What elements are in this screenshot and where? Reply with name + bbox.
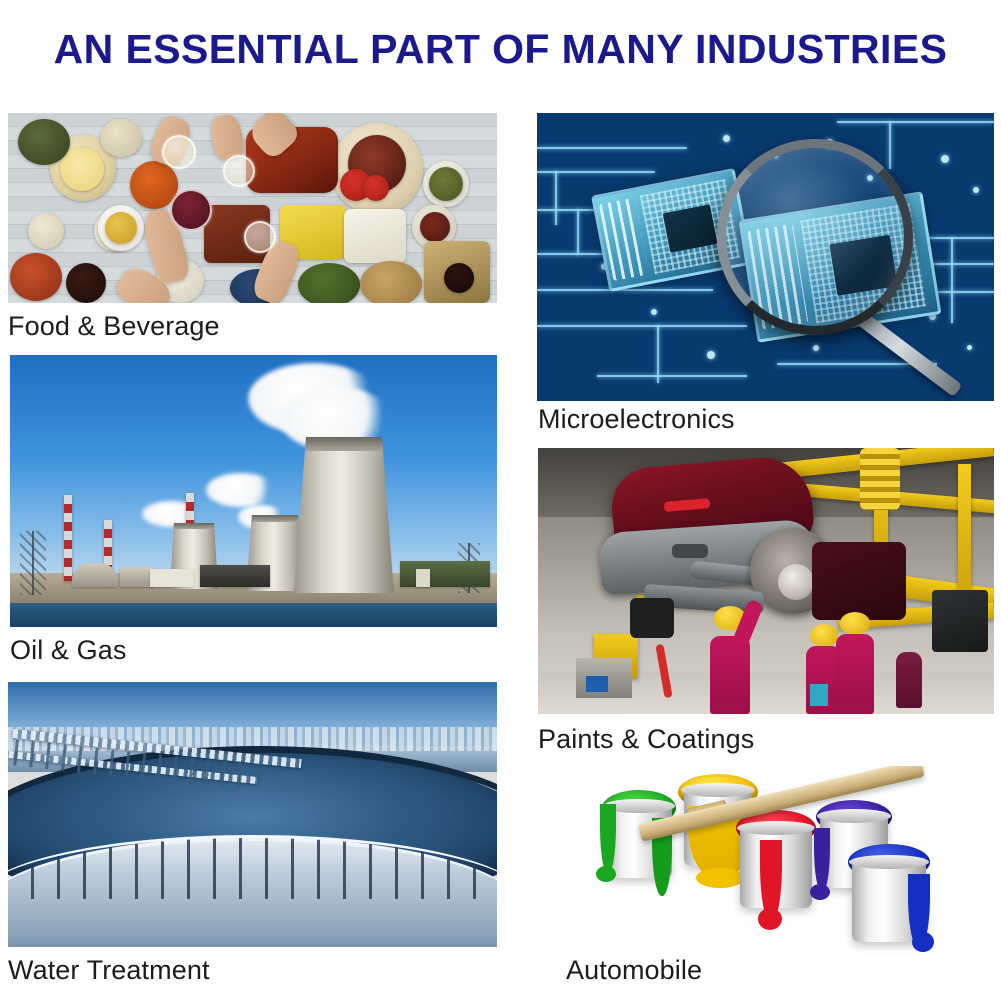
dish [360, 261, 422, 303]
plant-building [120, 567, 154, 587]
coil-spring [860, 448, 900, 510]
car-underbody [812, 542, 906, 620]
worker [836, 634, 874, 714]
smokestack [64, 495, 72, 581]
panel-paints-coatings [538, 448, 994, 714]
poster-root: AN ESSENTIAL PART OF MANY INDUSTRIES [0, 0, 1001, 1001]
solder-pad [973, 187, 979, 193]
hard-hat [840, 612, 870, 634]
dish [100, 119, 142, 157]
wine-glass [244, 221, 276, 253]
dish [429, 167, 463, 201]
automobile-photo [560, 766, 996, 956]
water-treatment-photo [8, 682, 497, 947]
control-cabinet [932, 590, 988, 652]
caption-paints-coatings: Paints & Coatings [538, 724, 754, 755]
circuit-trace [927, 263, 994, 265]
circuit-trace [837, 121, 994, 123]
circuit-trace [889, 121, 891, 169]
caption-food-beverage: Food & Beverage [8, 311, 220, 342]
solder-pad [941, 155, 949, 163]
solder-pad [651, 309, 657, 315]
blue-crate [586, 676, 608, 692]
dish [28, 213, 64, 249]
wine-glass [162, 135, 196, 169]
circuit-trace [537, 325, 747, 327]
plant-building [200, 565, 270, 587]
solder-pad [967, 345, 972, 350]
reactor-dome [72, 563, 118, 587]
magnifier-lens-icon [717, 139, 913, 335]
panel-oil-gas [10, 355, 497, 627]
solder-pad [707, 351, 715, 359]
microelectronics-photo [537, 113, 994, 401]
dish [298, 263, 360, 303]
steam-plume [206, 473, 276, 507]
plant-building [416, 569, 430, 587]
solder-pad [813, 345, 819, 351]
treeline [400, 561, 490, 587]
brake-rotor [778, 564, 814, 600]
panel-microelectronics [537, 113, 994, 401]
paint-blob-yellow [696, 868, 744, 888]
dish [105, 212, 137, 244]
food-beverage-photo [8, 113, 497, 303]
paint-blob-green [596, 866, 616, 882]
circuit-trace [555, 171, 557, 225]
paint-blob-red [758, 908, 782, 930]
paint-blob-purple [810, 884, 830, 900]
page-title: AN ESSENTIAL PART OF MANY INDUSTRIES [0, 26, 1001, 73]
dish [18, 119, 70, 165]
dish [10, 253, 62, 301]
water [10, 603, 497, 627]
panel-water-treatment [8, 682, 497, 947]
can-lip [849, 855, 929, 869]
panel-automobile [560, 766, 996, 956]
wine-glass [170, 189, 212, 231]
caption-water-treatment: Water Treatment [8, 955, 210, 986]
paint-blob-blue [912, 932, 934, 952]
blue-bucket [810, 684, 828, 706]
caption-automobile: Automobile [566, 955, 702, 986]
panel-food-beverage [8, 113, 497, 303]
circuit-trace [577, 209, 579, 255]
worker [710, 636, 750, 714]
can-lip [817, 809, 890, 823]
dish [420, 212, 450, 242]
cooling-tower-large [294, 437, 394, 593]
can-lip [681, 783, 754, 797]
dish [60, 147, 104, 191]
caption-microelectronics: Microelectronics [538, 404, 735, 435]
worker [896, 652, 922, 708]
dish [344, 209, 406, 263]
circuit-trace [951, 237, 953, 323]
electrical-pylon [20, 531, 46, 595]
circuit-trace [537, 289, 713, 291]
can-lip [737, 821, 815, 835]
caption-oil-gas: Oil & Gas [10, 635, 126, 666]
dish [66, 263, 106, 303]
dish [444, 263, 474, 293]
circuit-trace [597, 375, 747, 377]
paints-coatings-photo [538, 448, 994, 714]
oil-gas-photo [10, 355, 497, 627]
wheel-assembly [630, 598, 674, 638]
bumper-vent [672, 544, 708, 558]
solder-pad [723, 135, 730, 142]
circuit-trace [937, 291, 994, 293]
plant-building [150, 569, 194, 587]
dish [363, 175, 389, 201]
circuit-trace [537, 147, 687, 149]
wine-glass [223, 155, 255, 187]
hard-hat [810, 624, 838, 646]
